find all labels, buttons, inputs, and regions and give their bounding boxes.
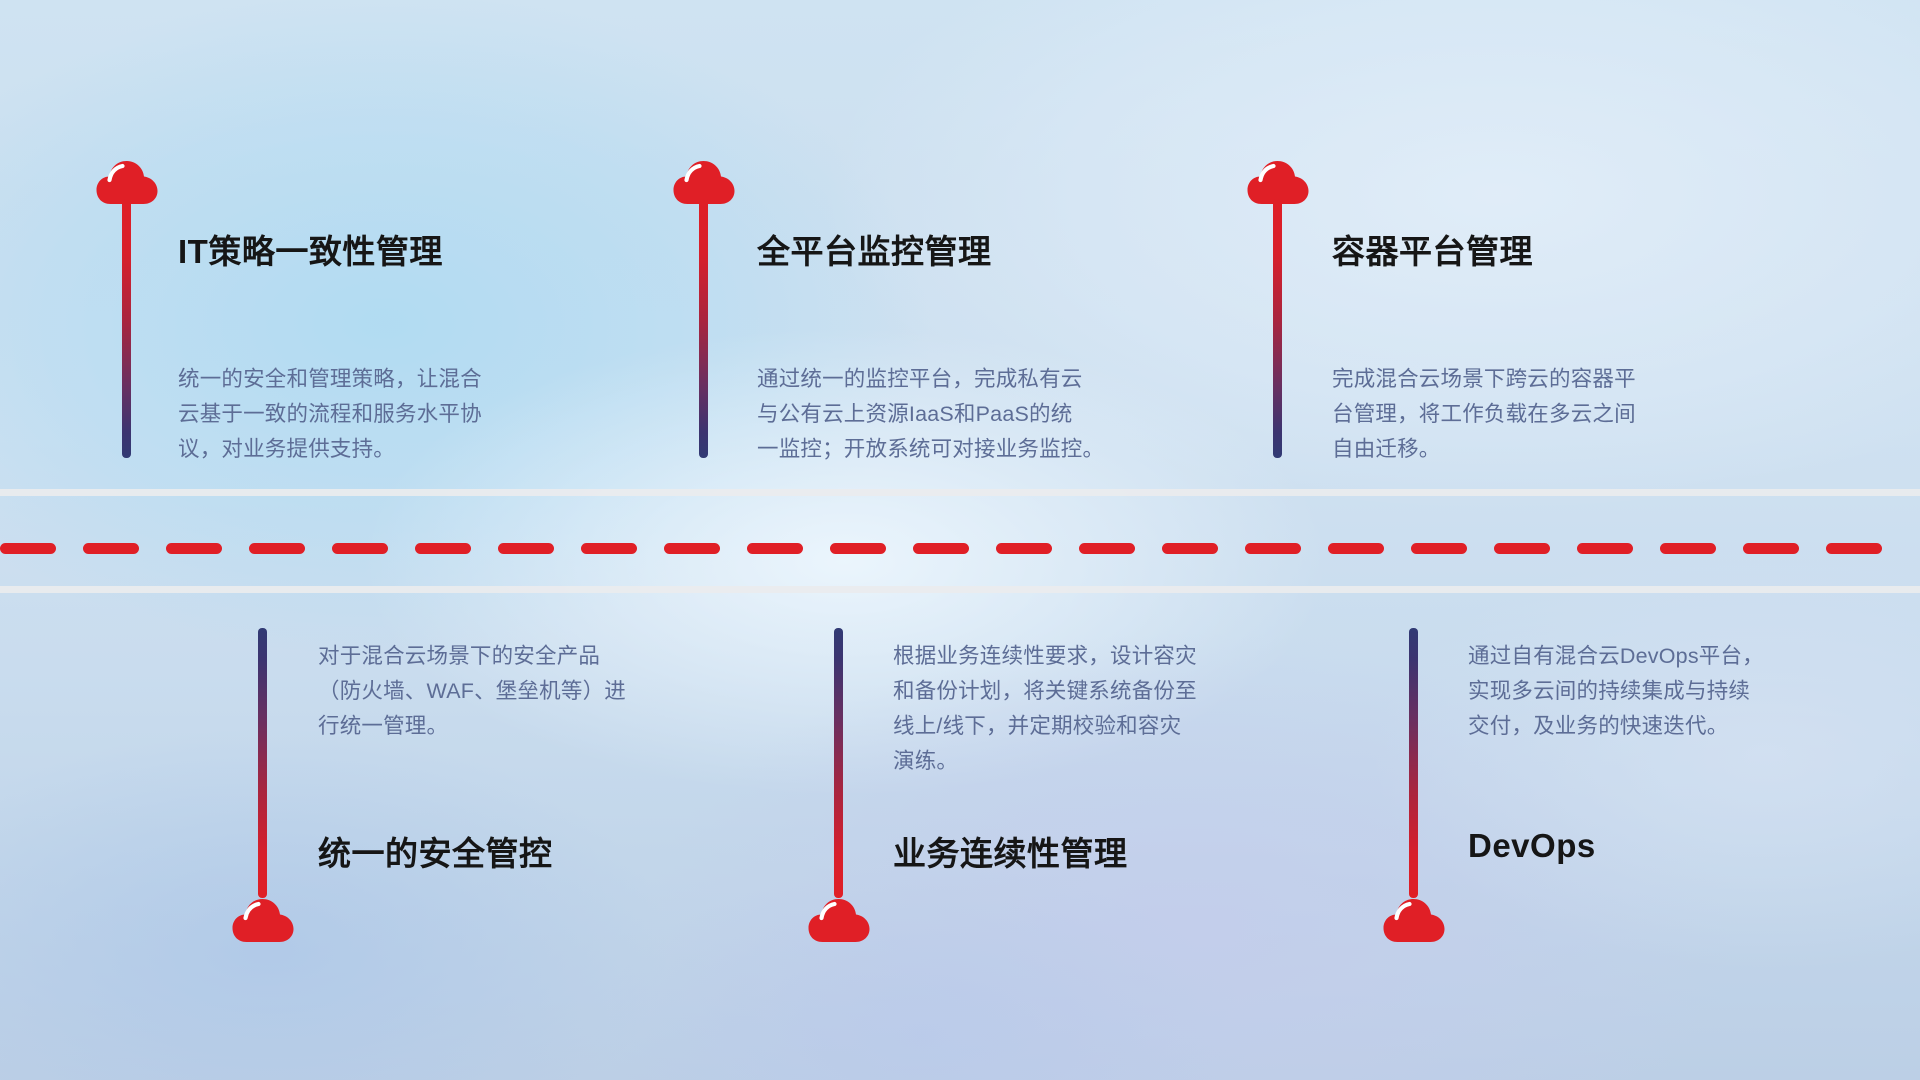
card-body: 完成混合云场景下跨云的容器平 台管理，将工作负载在多云之间 自由迁移。 — [1332, 362, 1772, 467]
connector-line — [1273, 196, 1282, 458]
cloud-icon — [1383, 898, 1445, 944]
divider-rule-bottom — [0, 586, 1920, 593]
divider-dash — [1162, 543, 1218, 554]
card-body: 统一的安全和管理策略，让混合 云基于一致的流程和服务水平协 议，对业务提供支持。 — [178, 362, 618, 467]
divider-dash — [913, 543, 969, 554]
divider-dash — [1494, 543, 1550, 554]
cloud-icon — [232, 898, 294, 944]
divider-dash — [581, 543, 637, 554]
divider-rule-top — [0, 489, 1920, 496]
card-title: 业务连续性管理 — [893, 827, 1128, 875]
divider-dash — [249, 543, 305, 554]
divider-dash — [830, 543, 886, 554]
connector-line — [699, 196, 708, 458]
divider-dash — [1826, 543, 1882, 554]
card-title: 统一的安全管控 — [318, 827, 553, 875]
connector-line — [1409, 628, 1418, 898]
divider-dash — [1328, 543, 1384, 554]
divider-dash — [415, 543, 471, 554]
card-body: 通过统一的监控平台，完成私有云 与公有云上资源IaaS和PaaS的统 一监控；开… — [757, 362, 1217, 467]
cloud-icon — [808, 898, 870, 944]
card-body: 根据业务连续性要求，设计容灾 和备份计划，将关键系统备份至 线上/线下，并定期校… — [893, 639, 1323, 779]
connector-line — [834, 628, 843, 898]
card-title: IT策略一致性管理 — [178, 225, 443, 273]
card-title: 全平台监控管理 — [757, 225, 992, 273]
divider-dash — [83, 543, 139, 554]
card-body: 通过自有混合云DevOps平台， 实现多云间的持续集成与持续 交付，及业务的快速… — [1468, 639, 1898, 744]
connector-line — [258, 628, 267, 898]
divider-dash — [0, 543, 56, 554]
divider-dash — [166, 543, 222, 554]
divider-dash — [1660, 543, 1716, 554]
divider-dash — [1245, 543, 1301, 554]
card-title: 容器平台管理 — [1332, 225, 1533, 273]
divider-dash — [1079, 543, 1135, 554]
card-title: DevOps — [1468, 827, 1596, 865]
dashed-red-divider — [0, 543, 1920, 554]
divider-dash — [1743, 543, 1799, 554]
connector-line — [122, 196, 131, 458]
divider-dash — [1577, 543, 1633, 554]
divider-dash — [332, 543, 388, 554]
divider-dash — [498, 543, 554, 554]
infographic-canvas: IT策略一致性管理 统一的安全和管理策略，让混合 云基于一致的流程和服务水平协 … — [0, 0, 1920, 1080]
divider-dash — [664, 543, 720, 554]
divider-dash — [747, 543, 803, 554]
divider-dash — [996, 543, 1052, 554]
divider-dash — [1411, 543, 1467, 554]
card-body: 对于混合云场景下的安全产品 （防火墙、WAF、堡垒机等）进 行统一管理。 — [318, 639, 748, 744]
